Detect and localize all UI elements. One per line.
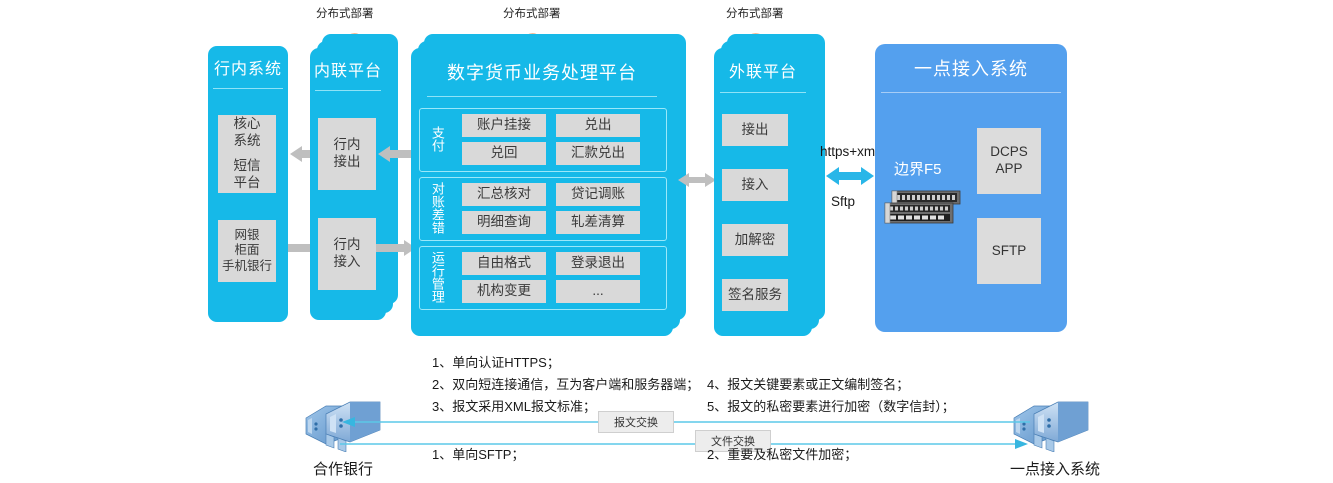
chip-external-out[interactable]: 接出 — [722, 114, 788, 146]
distributed-label-external: 分布式部署 — [726, 5, 784, 21]
chip-signature-service[interactable]: 签名服务 — [722, 279, 788, 311]
chip-core-system-line2: 系统 — [234, 133, 261, 150]
distributed-label-dcep: 分布式部署 — [503, 5, 561, 21]
chip-intranet-in-line2: 接入 — [334, 254, 361, 271]
chip-encrypt-decrypt[interactable]: 加解密 — [722, 224, 788, 256]
chip-intranet-out-line2: 接出 — [334, 154, 361, 171]
file-note-right-2: 2、重要及私密文件加密； — [707, 444, 857, 466]
chip-org-change[interactable]: 机构变更 — [462, 280, 546, 303]
link-label-https-xml: https+xml — [820, 144, 878, 159]
distributed-label-intranet: 分布式部署 — [316, 5, 374, 21]
file-note-left-1: 1、单向SFTP； — [432, 444, 524, 466]
panel-title-external-platform: 外联平台 — [714, 48, 812, 92]
arrow-dcep-external-bidirectional — [676, 172, 718, 188]
msg-note-right-4: 4、报文关键要素或正文编制签名； — [707, 374, 909, 396]
chip-intranet-in[interactable]: 行内 接入 — [318, 218, 376, 290]
message-exchange-tag: 报文交换 — [598, 411, 674, 433]
group-label-reconciliation: 对账差错 — [428, 180, 446, 236]
label-border-f5: 边界F5 — [894, 158, 942, 179]
chip-exchange-back[interactable]: 兑回 — [462, 142, 546, 165]
chip-dcps-app-line2: APP — [995, 161, 1022, 178]
chip-login-logout[interactable]: 登录退出 — [556, 252, 640, 275]
link-label-sftp: Sftp — [831, 194, 855, 209]
f5-switch-icon — [884, 190, 962, 226]
partner-bank-caption: 合作银行 — [295, 458, 391, 479]
chip-ebank-line3: 手机银行 — [222, 259, 272, 275]
chip-ebank-line2: 柜面 — [234, 243, 259, 259]
panel-title-one-point-access: 一点接入系统 — [875, 44, 1067, 92]
chip-sftp-label: SFTP — [992, 243, 1027, 260]
chip-netting-settlement[interactable]: 轧差清算 — [556, 211, 640, 234]
chip-credit-adjust[interactable]: 贷记调账 — [556, 183, 640, 206]
msg-note-left-1: 1、单向认证HTTPS； — [432, 352, 560, 374]
group-label-payment: 支付 — [428, 117, 446, 161]
chip-intranet-out-line1: 行内 — [334, 137, 361, 154]
chip-summary-check[interactable]: 汇总核对 — [462, 183, 546, 206]
chip-ebank-line1: 网银 — [234, 228, 259, 244]
msg-note-right-5: 5、报文的私密要素进行加密（数字信封）； — [707, 396, 955, 418]
chip-sms-line2: 平台 — [234, 175, 261, 192]
chip-exchange-out[interactable]: 兑出 — [556, 114, 640, 137]
chip-more[interactable]: ... — [556, 280, 640, 303]
chip-sftp[interactable]: SFTP — [977, 218, 1041, 284]
chip-ebank-counter-mobile[interactable]: 网银 柜面 手机银行 — [218, 220, 276, 282]
chip-dcps-app[interactable]: DCPS APP — [977, 128, 1041, 194]
msg-note-left-3: 3、报文采用XML报文标准； — [432, 396, 596, 418]
one-point-access-caption: 一点接入系统 — [1000, 458, 1110, 479]
chip-account-link[interactable]: 账户挂接 — [462, 114, 546, 137]
panel-title-dcep-platform: 数字货币业务处理平台 — [411, 48, 673, 96]
link-arrow-bidirectional — [824, 165, 876, 187]
chip-intranet-out[interactable]: 行内 接出 — [318, 118, 376, 190]
chip-external-in[interactable]: 接入 — [722, 169, 788, 201]
chip-core-system[interactable]: 核心 系统 短信 平台 — [218, 115, 276, 193]
chip-remittance-out[interactable]: 汇款兑出 — [556, 142, 640, 165]
chip-dcps-app-line1: DCPS — [990, 144, 1028, 161]
panel-title-intranet-platform: 内联平台 — [310, 48, 386, 90]
chip-intranet-in-line1: 行内 — [334, 237, 361, 254]
panel-title-bank-internal: 行内系统 — [208, 46, 288, 88]
chip-sms-line1: 短信 — [234, 158, 261, 175]
group-label-operations: 运行管理 — [428, 249, 446, 305]
chip-free-format[interactable]: 自由格式 — [462, 252, 546, 275]
chip-core-system-line1: 核心 — [234, 116, 261, 133]
chip-detail-query[interactable]: 明细查询 — [462, 211, 546, 234]
msg-note-left-2: 2、双向短连接通信，互为客户端和服务器端； — [432, 374, 699, 396]
